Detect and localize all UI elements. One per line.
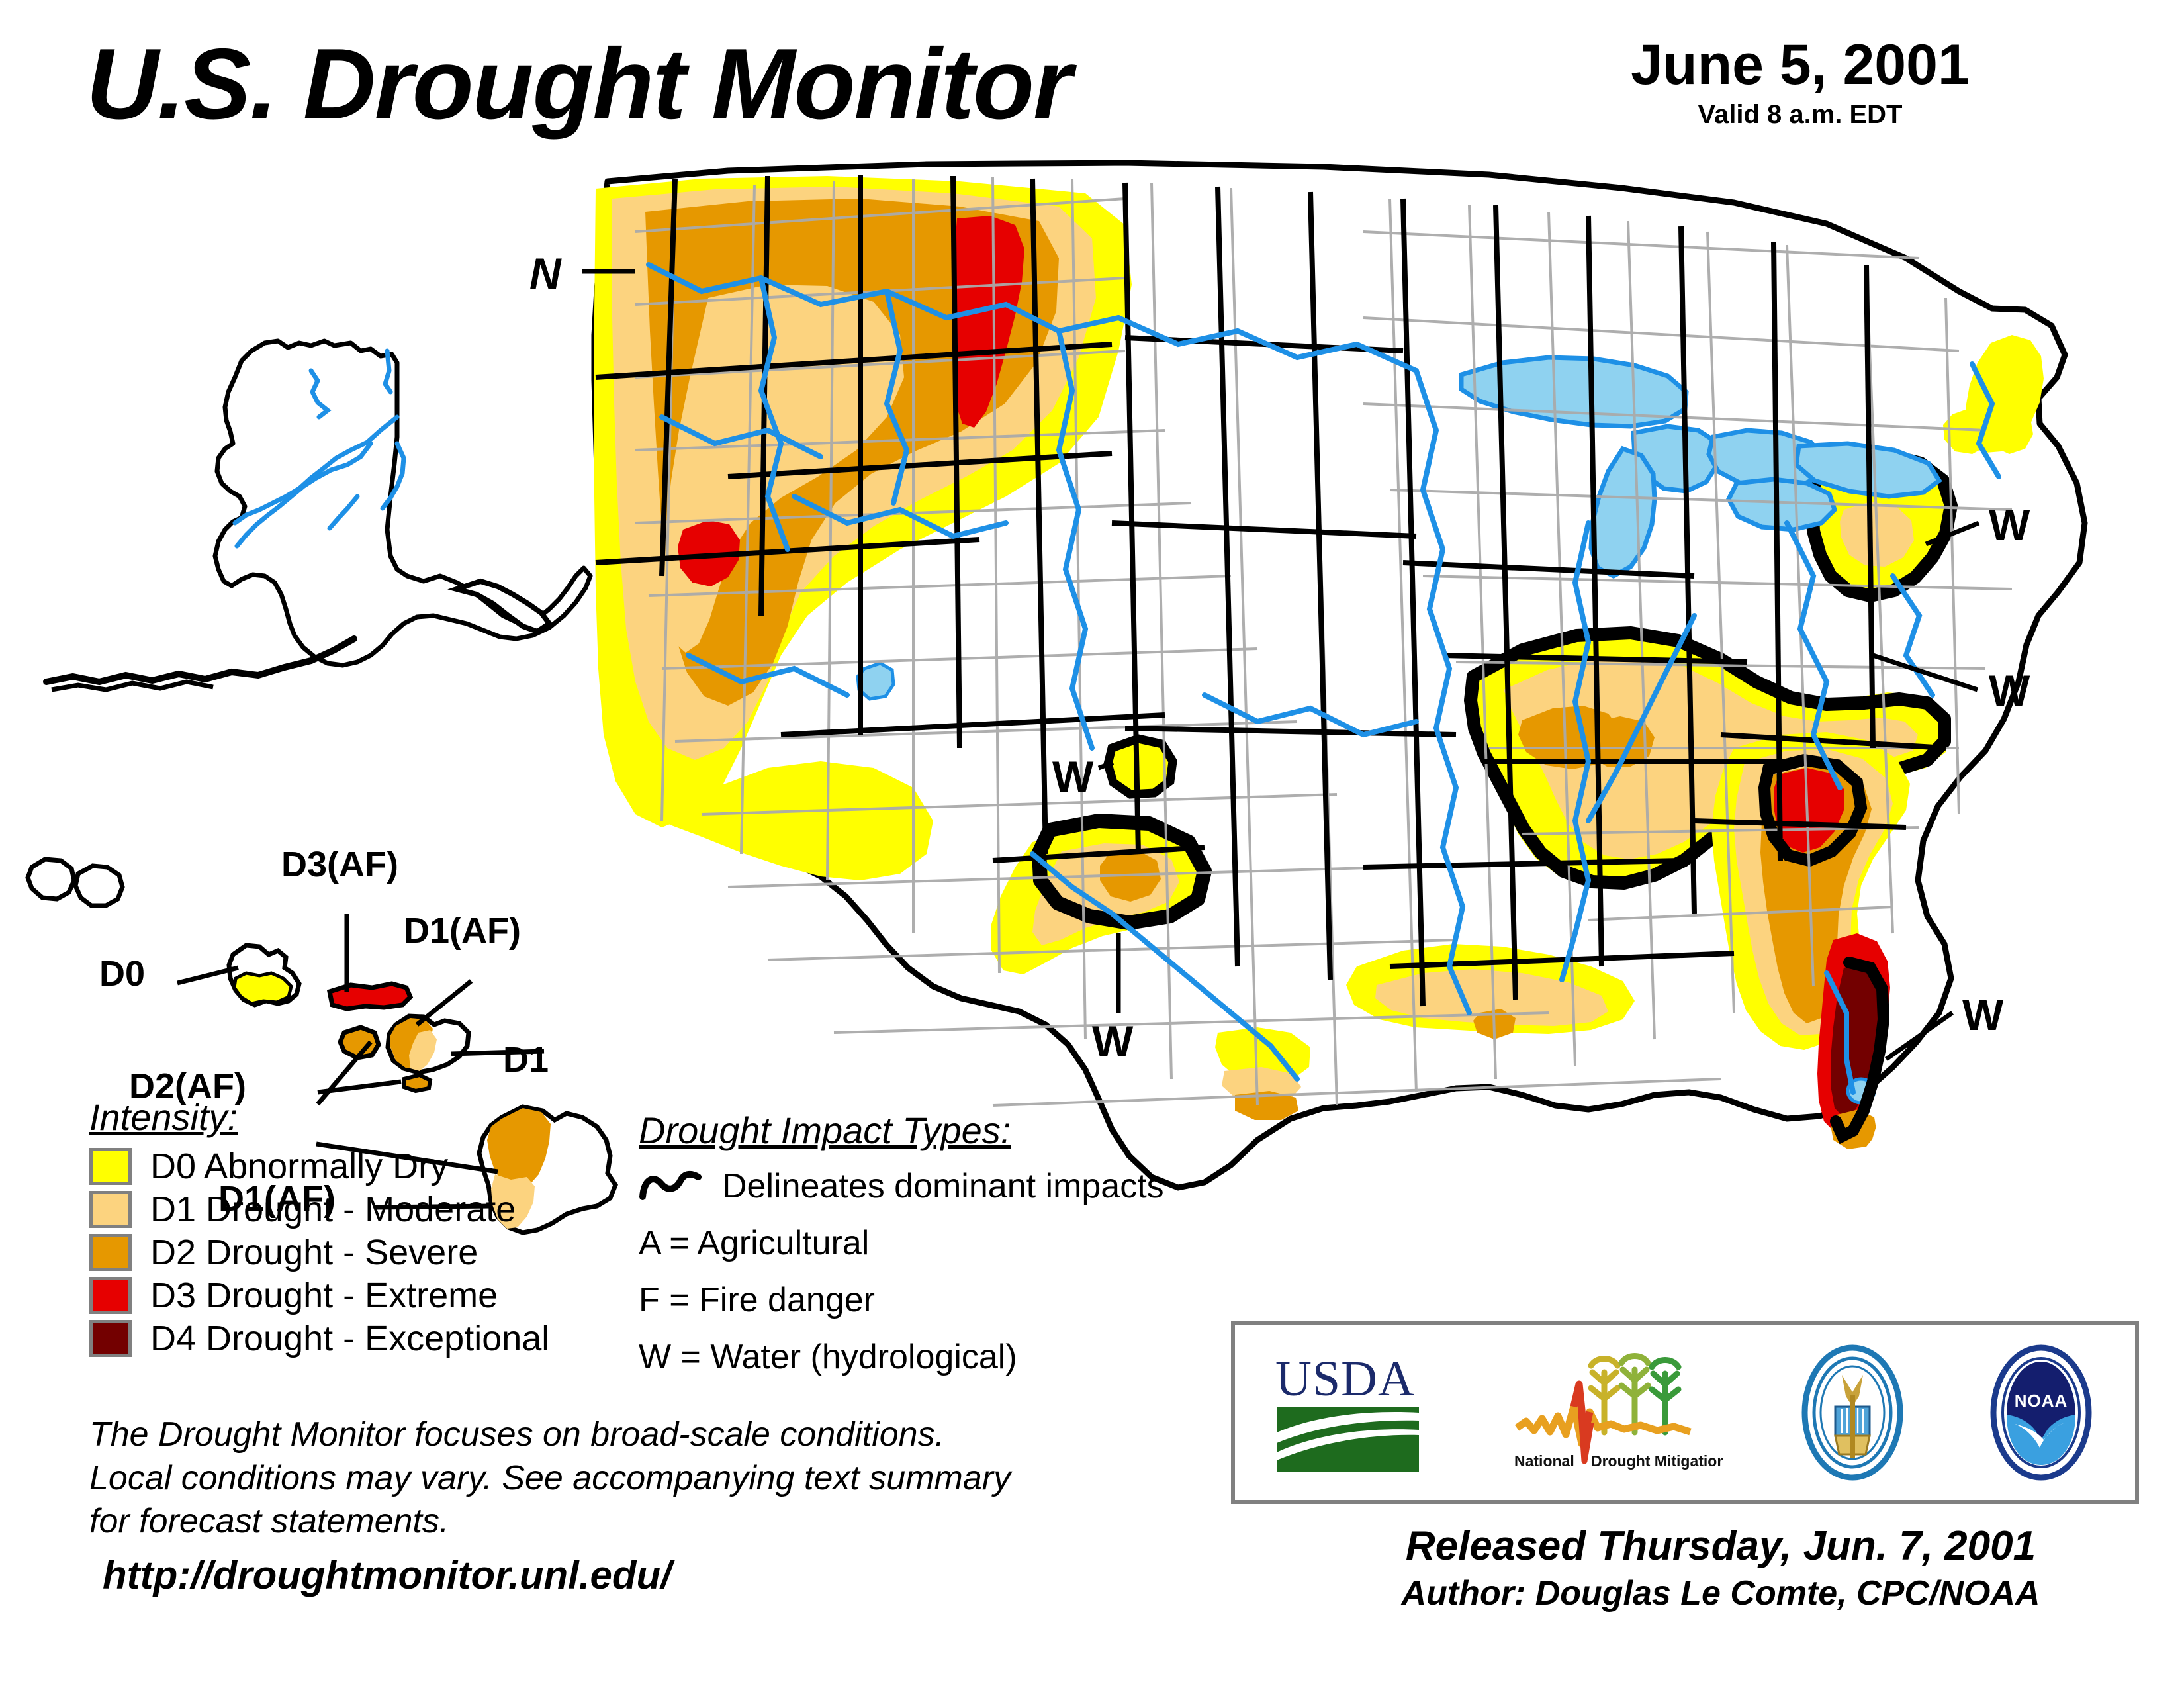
map-label-n: N [529,248,561,299]
svg-text:National: National [1514,1452,1574,1470]
map-label-w-colorado: W [1052,751,1093,802]
map-date: June 5, 2001 [1575,36,2025,93]
legend-swatch-d3 [89,1277,132,1314]
release-author: Author: Douglas Le Comte, CPC/NOAA [1324,1573,2118,1613]
impacts-delineates-row: Delineates dominant impacts [639,1166,1164,1206]
disclaimer-line-2: Local conditions may vary. See accompany… [89,1457,1011,1501]
website-url[interactable]: http://droughtmonitor.unl.edu/ [103,1552,672,1598]
impacts-delineates-text: Delineates dominant impacts [722,1166,1164,1206]
hawaii-callout-d3af: D3(AF) [281,844,398,885]
legend-swatch-d1 [89,1191,132,1228]
map-label-w-carolinas: W [1989,665,2030,716]
noaa-seal-icon: NOAA [1981,1343,2101,1482]
alaska-inset [46,341,590,690]
hawaii-callout-d1: D1 [503,1039,549,1080]
sponsor-logo-box: USDA National Drought Mitigation Center [1231,1321,2139,1504]
usda-logo-icon: USDA [1270,1346,1435,1479]
legend-item-d1: D1 Drought - Moderate [89,1191,549,1228]
legend-swatch-d2 [89,1234,132,1271]
squiggle-icon [639,1168,702,1205]
ndmc-logo-icon: National Drought Mitigation Center [1505,1343,1723,1482]
disclaimer: The Drought Monitor focuses on broad-sca… [89,1413,1011,1544]
impacts-label-w: W = Water (hydrological) [639,1337,1017,1377]
ndmc-logo: National Drought Mitigation Center [1505,1325,1723,1500]
impact-types-legend: Drought Impact Types: Delineates dominan… [639,1109,1164,1394]
hawaii-callout-d1af-maui: D1(AF) [404,910,521,951]
page-title: U.S. Drought Monitor [86,26,1071,142]
release-date: Released Thursday, Jun. 7, 2001 [1324,1523,2118,1570]
date-block: June 5, 2001 Valid 8 a.m. EDT [1575,36,2025,130]
legend-label-d3: D3 Drought - Extreme [150,1278,498,1313]
disclaimer-line-3: for forecast statements. [89,1500,1011,1544]
drought-map [0,152,2184,1238]
noaa-seal: NOAA [1981,1325,2101,1500]
legend-item-d2: D2 Drought - Severe [89,1234,549,1271]
intensity-legend: Intensity: D0 Abnormally Dry D1 Drought … [89,1096,549,1363]
svg-text:Drought Mitigation Center: Drought Mitigation Center [1591,1452,1723,1470]
impacts-heading: Drought Impact Types: [639,1109,1164,1152]
usda-logo: USDA [1270,1325,1435,1500]
hawaii-callout-d0: D0 [99,953,145,994]
map-valid-time: Valid 8 a.m. EDT [1575,100,2025,130]
map-label-w-florida: W [1962,990,2003,1040]
legend-heading: Intensity: [89,1096,549,1139]
legend-label-d2: D2 Drought - Severe [150,1235,478,1270]
legend-item-d0: D0 Abnormally Dry [89,1148,549,1185]
doc-seal [1793,1325,1912,1500]
conus-map [594,163,2085,1188]
svg-text:NOAA: NOAA [2014,1391,2068,1411]
release-info: Released Thursday, Jun. 7, 2001 Author: … [1324,1523,2118,1613]
impacts-type-fire: F = Fire danger [639,1280,1164,1320]
map-label-w-northeast: W [1989,500,2030,550]
legend-label-d0: D0 Abnormally Dry [150,1149,448,1184]
legend-label-d1: D1 Drought - Moderate [150,1192,516,1227]
disclaimer-line-1: The Drought Monitor focuses on broad-sca… [89,1413,1011,1457]
impacts-label-f: F = Fire danger [639,1280,875,1320]
legend-label-d4: D4 Drought - Exceptional [150,1321,549,1356]
map-label-w-texas: W [1092,1016,1133,1066]
legend-item-d3: D3 Drought - Extreme [89,1277,549,1314]
svg-text:USDA: USDA [1275,1351,1415,1407]
legend-swatch-d0 [89,1148,132,1185]
doc-seal-icon [1793,1343,1912,1482]
legend-swatch-d4 [89,1320,132,1357]
impacts-type-agricultural: A = Agricultural [639,1223,1164,1263]
impacts-label-a: A = Agricultural [639,1223,869,1263]
impacts-type-water: W = Water (hydrological) [639,1337,1164,1377]
legend-item-d4: D4 Drought - Exceptional [89,1320,549,1357]
